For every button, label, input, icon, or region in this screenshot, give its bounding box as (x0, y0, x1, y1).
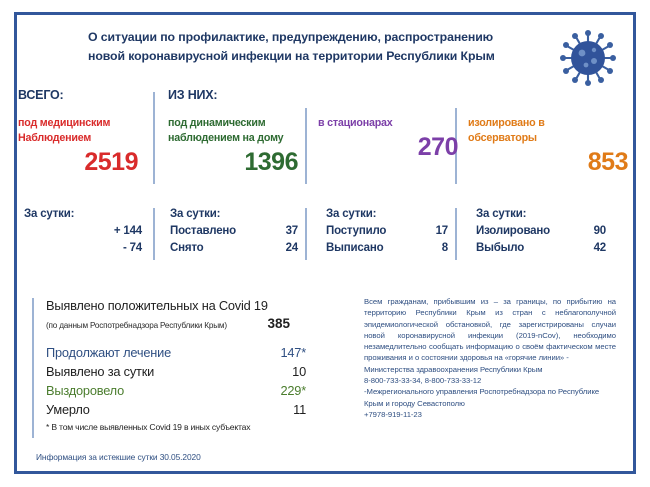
daily-card-home-observation: За сутки: Поставлено 37 Снято 24 (170, 208, 298, 254)
covid-source-row: (по данным Роспотребнадзора Республики К… (46, 316, 352, 331)
covid-value-under-treatment: 147* (280, 345, 352, 360)
daily-row: Выбыло 42 (476, 242, 606, 254)
daily-title-total: За сутки: (24, 208, 142, 220)
daily-row: Изолировано 90 (476, 225, 606, 237)
daily-card-observatories: За сутки: Изолировано 90 Выбыло 42 (476, 208, 606, 254)
daily-title-hospitals: За сутки: (326, 208, 448, 220)
covid-value-detected-today: 10 (292, 364, 352, 379)
daily-divider-2 (305, 208, 307, 260)
stat-card-hospitals: в стационарах 270 (318, 88, 458, 162)
footer-timestamp: Информация за истекшие сутки 30.05.2020 (36, 452, 201, 462)
infographic-poster: О ситуации по профилактике, предупрежден… (0, 0, 650, 487)
covid-label-detected-today: Выявлено за сутки (46, 364, 154, 379)
covid-label-recovered: Выздоровело (46, 383, 124, 398)
daily-row: Снято 24 (170, 242, 298, 254)
stat-card-observatories: изолировано в обсерваторы 853 (468, 88, 628, 177)
daily-row: Поставлено 37 (170, 225, 298, 237)
stat-label-home-observation: под динамическим наблюдением на дому (168, 116, 298, 146)
covid-row-deceased: Умерло 11 (46, 402, 352, 417)
daily-value-admitted: 17 (436, 225, 448, 237)
stat-card-home-observation: ИЗ НИХ: под динамическим наблюдением на … (168, 88, 298, 177)
coronavirus-icon (556, 26, 620, 90)
covid-label-deceased: Умерло (46, 402, 90, 417)
covid-cases-block: Выявлено положительных на Covid 19 (по д… (32, 298, 352, 438)
info-phones-rospotrebnadzor: +7978-919-11-23 (364, 409, 616, 420)
stat-caption-total: ВСЕГО: (18, 88, 138, 102)
hotline-information-block: Всем гражданам, прибывшим из – за границ… (364, 296, 616, 420)
stat-label-hospitals: в стационарах (318, 116, 458, 131)
daily-value-released: 8 (442, 242, 448, 254)
stats-divider-2 (305, 108, 307, 184)
stat-value-total: 2519 (18, 148, 138, 177)
daily-label-left: Выбыло (476, 242, 524, 254)
daily-value-left: 42 (594, 242, 606, 254)
daily-value-discharged-observation: 24 (286, 242, 298, 254)
daily-value-added: + 144 (90, 225, 142, 237)
covid-footnote: * В том числе выявленных Covid 19 в иных… (46, 422, 352, 432)
covid-row-recovered: Выздоровело 229* (46, 383, 352, 398)
daily-value-placed: 37 (286, 225, 298, 237)
stat-value-hospitals: 270 (318, 133, 458, 162)
stat-value-home-observation: 1396 (168, 148, 298, 177)
covid-value-recovered: 229* (280, 383, 352, 398)
stat-card-total-medical-observation: ВСЕГО: под медицинским Наблюдением 2519 (18, 88, 138, 177)
covid-value-deceased: 11 (293, 402, 352, 417)
daily-label-isolated: Изолировано (476, 225, 550, 237)
daily-divider-3 (455, 208, 457, 260)
page-title: О ситуации по профилактике, предупрежден… (88, 28, 538, 66)
covid-source-note: (по данным Роспотребнадзора Республики К… (46, 321, 227, 330)
covid-row-detected-today: Выявлено за сутки 10 (46, 364, 352, 379)
info-organization-rospotrebnadzor: -Межрегионального управления Роспотребна… (364, 386, 616, 409)
daily-label-released: Выписано (326, 242, 383, 254)
daily-row: Выписано 8 (326, 242, 448, 254)
daily-row: Поступило 17 (326, 225, 448, 237)
daily-statistics: За сутки: + 144 - 74 За сутки: Поставлен… (18, 208, 628, 270)
stat-label-observatories: изолировано в обсерваторы (468, 116, 628, 146)
daily-label-discharged-observation: Снято (170, 242, 203, 254)
daily-label-admitted: Поступило (326, 225, 386, 237)
daily-card-total: За сутки: + 144 - 74 (24, 208, 142, 254)
info-paragraph: Всем гражданам, прибывшим из – за границ… (364, 296, 616, 364)
title-line-1: О ситуации по профилактике, предупрежден… (88, 28, 538, 47)
title-line-2: новой коронавирусной инфекции на террито… (88, 47, 538, 66)
daily-title-observatories: За сутки: (476, 208, 606, 220)
stat-value-observatories: 853 (468, 148, 628, 177)
daily-label-placed: Поставлено (170, 225, 236, 237)
covid-value-total: 385 (267, 316, 352, 331)
daily-row: - 74 (24, 242, 142, 254)
daily-value-isolated: 90 (594, 225, 606, 237)
stat-caption-of-which: ИЗ НИХ: (168, 88, 298, 102)
stat-label-medical-observation: под медицинским Наблюдением (18, 116, 138, 146)
daily-card-hospitals: За сутки: Поступило 17 Выписано 8 (326, 208, 448, 254)
daily-value-removed: - 74 (90, 242, 142, 254)
covid-row-under-treatment: Продолжают лечение 147* (46, 345, 352, 360)
covid-label-under-treatment: Продолжают лечение (46, 345, 171, 360)
info-organization-health-ministry: Министерства здравоохранения Республики … (364, 364, 616, 375)
info-phones-health-ministry: 8-800-733-33-34, 8-800-733-33-12 (364, 375, 616, 386)
covid-block-title: Выявлено положительных на Covid 19 (46, 298, 352, 313)
daily-row: + 144 (24, 225, 142, 237)
daily-divider-1 (153, 208, 155, 260)
stats-divider-1 (153, 92, 155, 184)
daily-title-home: За сутки: (170, 208, 298, 220)
summary-statistics: ВСЕГО: под медицинским Наблюдением 2519 … (18, 88, 628, 188)
